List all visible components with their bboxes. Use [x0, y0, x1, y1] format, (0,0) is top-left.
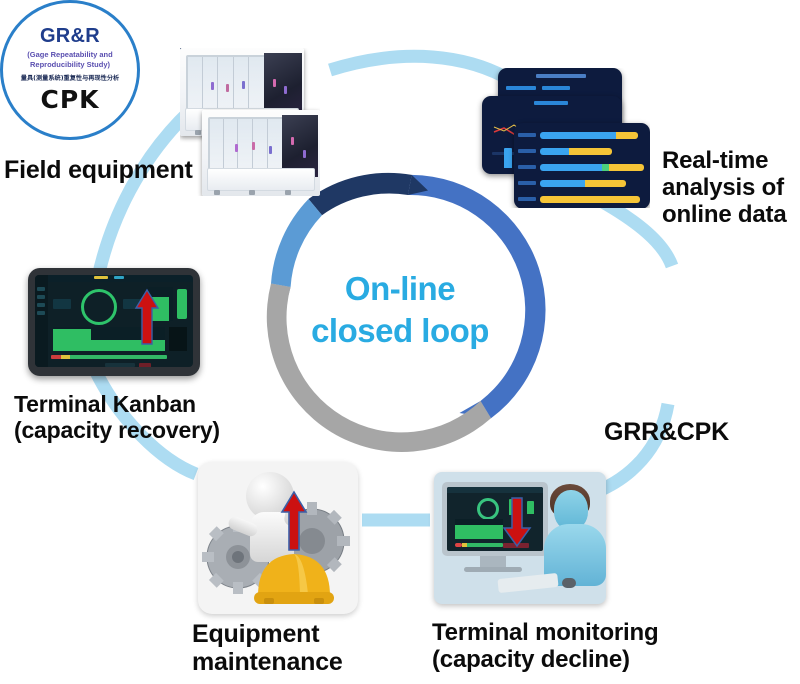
- monitor-base: [464, 567, 522, 572]
- terminal-monitoring-image[interactable]: [434, 472, 606, 604]
- kanban-waveform-panel-right: [169, 327, 187, 351]
- label-real-time-analysis: Real-time analysis of online data: [662, 148, 786, 229]
- terminal-kanban-image[interactable]: [28, 268, 200, 376]
- ring-segment-right: [408, 175, 546, 418]
- keyboard: [497, 573, 558, 593]
- dashboard-panel-front: [514, 123, 650, 208]
- kanban-recovery-arrow-icon: [134, 288, 160, 346]
- computer-mouse: [562, 578, 576, 588]
- field-equipment-image[interactable]: [180, 48, 320, 196]
- label-terminal-kanban: Terminal Kanban (capacity recovery): [14, 392, 220, 444]
- label-terminal-monitoring: Terminal monitoring (capacity decline): [432, 620, 658, 674]
- computer-monitor: [442, 482, 548, 556]
- real-time-dashboard-image[interactable]: [470, 68, 650, 208]
- kanban-side-bar: [177, 289, 187, 319]
- ring-segment-bottom: [267, 284, 491, 452]
- label-field-equipment: Field equipment: [4, 156, 193, 184]
- capacity-decline-arrow-icon: [502, 496, 532, 548]
- kanban-status-bar: [51, 355, 167, 359]
- machine-cabinet-base-2: [207, 168, 316, 191]
- label-grr-cpk: GRR&CPK: [604, 418, 729, 446]
- hard-hat-icon: [254, 546, 334, 608]
- kanban-gauge: [81, 289, 117, 325]
- ring-segment-left: [271, 199, 322, 287]
- kanban-topbar: [48, 275, 193, 282]
- kanban-sidebar: [35, 275, 48, 367]
- capacity-recovery-arrow-icon: [280, 490, 308, 552]
- equipment-maintenance-image[interactable]: [198, 462, 358, 614]
- diagram-canvas: On-line closed loop: [0, 0, 800, 684]
- tablet-screen: [35, 275, 193, 367]
- label-equipment-maintenance: Equipment maintenance: [192, 620, 343, 676]
- ring-segment-top-left: [309, 173, 412, 215]
- machine-photo-bottom: [202, 110, 320, 196]
